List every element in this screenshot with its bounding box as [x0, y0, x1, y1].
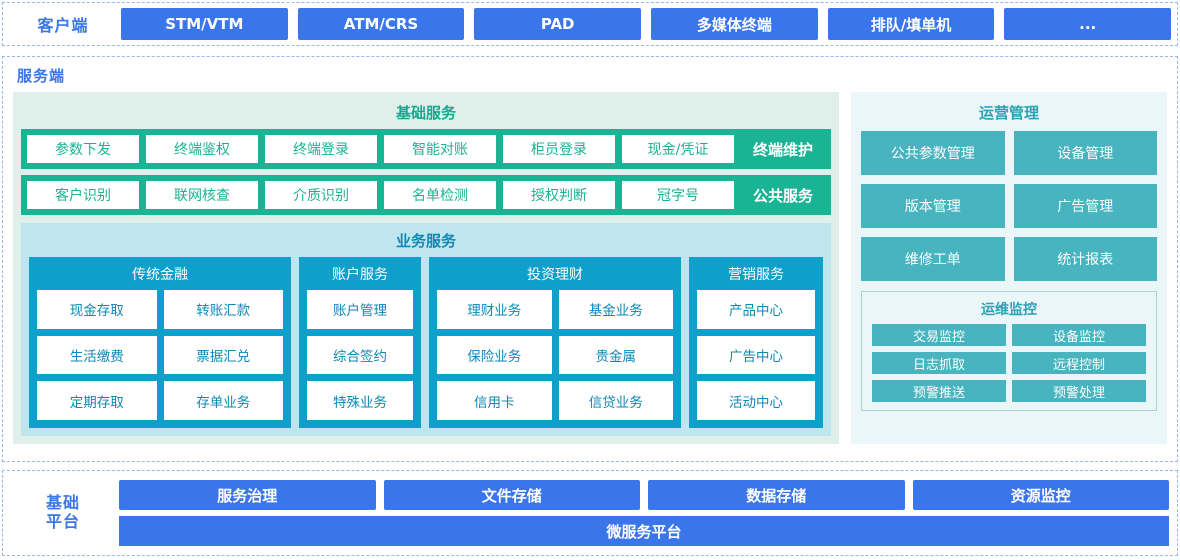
business-group-grid-marketing-service: 产品中心 广告中心 活动中心 — [697, 290, 815, 420]
platform-content: 服务治理 文件存储 数据存储 资源监控 微服务平台 — [115, 480, 1169, 546]
platform-label-line1: 基础 — [11, 494, 115, 513]
ops-cell-device-management[interactable]: 设备管理 — [1014, 131, 1158, 175]
basic-cell-customer-identification[interactable]: 客户识别 — [27, 181, 139, 209]
platform-label-line2: 平台 — [11, 513, 115, 532]
platform-item-resource-monitoring[interactable]: 资源监控 — [913, 480, 1170, 510]
biz-cell-utility-payment[interactable]: 生活缴费 — [37, 336, 157, 375]
operation-management-title: 运营管理 — [861, 98, 1157, 131]
biz-cell-product-center[interactable]: 产品中心 — [697, 290, 815, 329]
basic-services-row-public-service: 客户识别 联网核查 介质识别 名单检测 授权判断 冠字号 公共服务 — [21, 175, 831, 215]
business-group-list: 传统金融 现金存取 转账汇款 生活缴费 票据汇兑 定期存取 存单业务 — [29, 257, 823, 428]
operation-monitoring-grid: 交易监控 设备监控 日志抓取 远程控制 预警推送 预警处理 — [872, 324, 1146, 402]
biz-cell-precious-metals[interactable]: 贵金属 — [559, 336, 674, 375]
business-services-panel: 业务服务 传统金融 现金存取 转账汇款 生活缴费 票据汇兑 定期存取 存单业务 — [21, 223, 831, 436]
server-layer-label: 服务端 — [17, 65, 1167, 86]
platform-item-file-storage[interactable]: 文件存储 — [384, 480, 641, 510]
business-group-title-account-service: 账户服务 — [307, 262, 413, 290]
platform-item-microservice-platform[interactable]: 微服务平台 — [119, 516, 1169, 546]
ops-cell-version-management[interactable]: 版本管理 — [861, 184, 1005, 228]
client-layer: 客户端 STM/VTM ATM/CRS PAD 多媒体终端 排队/填单机 ... — [2, 2, 1178, 46]
biz-cell-comprehensive-signing[interactable]: 综合签约 — [307, 336, 413, 375]
monitoring-cell-log-capture[interactable]: 日志抓取 — [872, 352, 1006, 374]
basic-cell-terminal-auth[interactable]: 终端鉴权 — [146, 135, 258, 163]
client-item-list: STM/VTM ATM/CRS PAD 多媒体终端 排队/填单机 ... — [117, 8, 1171, 40]
architecture-diagram: 客户端 STM/VTM ATM/CRS PAD 多媒体终端 排队/填单机 ...… — [0, 0, 1180, 560]
biz-cell-transfer-remittance[interactable]: 转账汇款 — [164, 290, 284, 329]
basic-services-row-terminal-maintenance: 参数下发 终端鉴权 终端登录 智能对账 柜员登录 现金/凭证 终端维护 — [21, 129, 831, 169]
ops-cell-public-parameter-management[interactable]: 公共参数管理 — [861, 131, 1005, 175]
basic-cell-smart-reconciliation[interactable]: 智能对账 — [384, 135, 496, 163]
basic-cell-cash-voucher[interactable]: 现金/凭证 — [622, 135, 734, 163]
client-item-pad[interactable]: PAD — [474, 8, 641, 40]
business-group-grid-account-service: 账户管理 综合签约 特殊业务 — [307, 290, 413, 420]
biz-cell-advertising-center[interactable]: 广告中心 — [697, 336, 815, 375]
client-item-more[interactable]: ... — [1004, 8, 1171, 40]
ops-cell-advertising-management[interactable]: 广告管理 — [1014, 184, 1158, 228]
biz-cell-activity-center[interactable]: 活动中心 — [697, 381, 815, 420]
client-layer-label: 客户端 — [9, 12, 117, 36]
client-item-atm-crs[interactable]: ATM/CRS — [298, 8, 465, 40]
business-group-grid-traditional-finance: 现金存取 转账汇款 生活缴费 票据汇兑 定期存取 存单业务 — [37, 290, 283, 420]
platform-item-row: 服务治理 文件存储 数据存储 资源监控 — [119, 480, 1169, 510]
business-services-title: 业务服务 — [29, 227, 823, 257]
business-group-title-traditional-finance: 传统金融 — [37, 262, 283, 290]
monitoring-cell-remote-control[interactable]: 远程控制 — [1012, 352, 1146, 374]
platform-item-data-storage[interactable]: 数据存储 — [648, 480, 905, 510]
basic-cell-list-check[interactable]: 名单检测 — [384, 181, 496, 209]
operation-monitoring-panel: 运维监控 交易监控 设备监控 日志抓取 远程控制 预警推送 预警处理 — [861, 291, 1157, 411]
business-group-account-service: 账户服务 账户管理 综合签约 特殊业务 — [299, 257, 421, 428]
monitoring-cell-transaction-monitoring[interactable]: 交易监控 — [872, 324, 1006, 346]
basic-cell-serial-number[interactable]: 冠字号 — [622, 181, 734, 209]
business-group-traditional-finance: 传统金融 现金存取 转账汇款 生活缴费 票据汇兑 定期存取 存单业务 — [29, 257, 291, 428]
operation-management-panel: 运营管理 公共参数管理 设备管理 版本管理 广告管理 维修工单 统计报表 运维监… — [851, 92, 1167, 444]
monitoring-cell-alert-push[interactable]: 预警推送 — [872, 380, 1006, 402]
basic-services-row-tag-public-service: 公共服务 — [741, 185, 825, 206]
monitoring-cell-alert-handling[interactable]: 预警处理 — [1012, 380, 1146, 402]
platform-layer: 基础 平台 服务治理 文件存储 数据存储 资源监控 微服务平台 — [2, 470, 1178, 556]
basic-cell-online-verification[interactable]: 联网核查 — [146, 181, 258, 209]
client-item-stm-vtm[interactable]: STM/VTM — [121, 8, 288, 40]
basic-cell-teller-login[interactable]: 柜员登录 — [503, 135, 615, 163]
biz-cell-wealth-management[interactable]: 理财业务 — [437, 290, 552, 329]
ops-cell-maintenance-work-order[interactable]: 维修工单 — [861, 237, 1005, 281]
server-layer: 服务端 基础服务 参数下发 终端鉴权 终端登录 智能对账 柜员登录 现金/凭证 … — [2, 56, 1178, 462]
basic-and-business-services-panel: 基础服务 参数下发 终端鉴权 终端登录 智能对账 柜员登录 现金/凭证 终端维护… — [13, 92, 839, 444]
basic-services-title: 基础服务 — [21, 98, 831, 129]
business-group-marketing-service: 营销服务 产品中心 广告中心 活动中心 — [689, 257, 823, 428]
ops-cell-statistical-report[interactable]: 统计报表 — [1014, 237, 1158, 281]
client-item-queue-form-machine[interactable]: 排队/填单机 — [828, 8, 995, 40]
biz-cell-insurance-business[interactable]: 保险业务 — [437, 336, 552, 375]
platform-layer-label: 基础 平台 — [11, 494, 115, 532]
biz-cell-credit-card[interactable]: 信用卡 — [437, 381, 552, 420]
platform-item-service-governance[interactable]: 服务治理 — [119, 480, 376, 510]
business-group-investment-finance: 投资理财 理财业务 基金业务 保险业务 贵金属 信用卡 信贷业务 — [429, 257, 681, 428]
basic-services-row-tag-terminal-maintenance: 终端维护 — [741, 139, 825, 160]
biz-cell-cash-deposit-withdraw[interactable]: 现金存取 — [37, 290, 157, 329]
biz-cell-account-management[interactable]: 账户管理 — [307, 290, 413, 329]
client-item-multimedia-terminal[interactable]: 多媒体终端 — [651, 8, 818, 40]
basic-cell-param-dispatch[interactable]: 参数下发 — [27, 135, 139, 163]
biz-cell-time-deposit[interactable]: 定期存取 — [37, 381, 157, 420]
business-group-title-marketing-service: 营销服务 — [697, 262, 815, 290]
biz-cell-special-business[interactable]: 特殊业务 — [307, 381, 413, 420]
basic-cell-authorization-judgement[interactable]: 授权判断 — [503, 181, 615, 209]
business-group-title-investment-finance: 投资理财 — [437, 262, 673, 290]
biz-cell-fund-business[interactable]: 基金业务 — [559, 290, 674, 329]
server-columns: 基础服务 参数下发 终端鉴权 终端登录 智能对账 柜员登录 现金/凭证 终端维护… — [13, 92, 1167, 444]
monitoring-cell-device-monitoring[interactable]: 设备监控 — [1012, 324, 1146, 346]
basic-cell-media-recognition[interactable]: 介质识别 — [265, 181, 377, 209]
operation-management-grid: 公共参数管理 设备管理 版本管理 广告管理 维修工单 统计报表 — [861, 131, 1157, 281]
biz-cell-bill-exchange[interactable]: 票据汇兑 — [164, 336, 284, 375]
basic-cell-terminal-login[interactable]: 终端登录 — [265, 135, 377, 163]
business-group-grid-investment-finance: 理财业务 基金业务 保险业务 贵金属 信用卡 信贷业务 — [437, 290, 673, 420]
biz-cell-certificate-deposit[interactable]: 存单业务 — [164, 381, 284, 420]
operation-monitoring-title: 运维监控 — [872, 296, 1146, 324]
biz-cell-credit-business[interactable]: 信贷业务 — [559, 381, 674, 420]
